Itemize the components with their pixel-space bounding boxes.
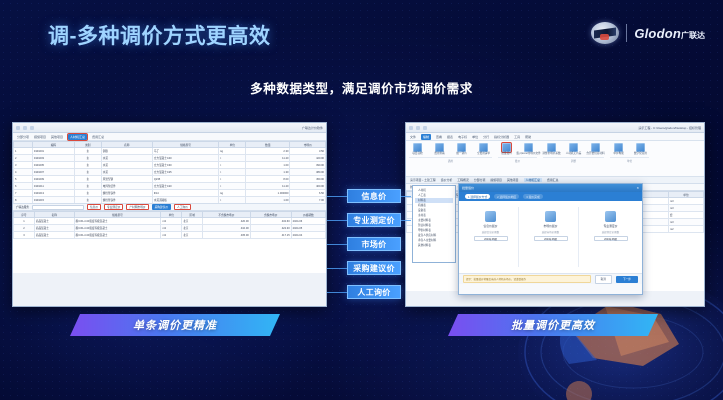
close-icon[interactable]: [30, 126, 34, 130]
dialog-cancel-button[interactable]: 取消: [595, 275, 612, 284]
nav-tab-4[interactable]: 其他项目: [507, 178, 519, 182]
cell-unit: m3: [161, 218, 182, 225]
ribbon-button-全费用清单[interactable]: 全费用清单: [475, 143, 492, 156]
ribbon-button-人材机无价差[interactable]: 人材机无价差: [565, 143, 582, 156]
cell-unit: m3: [161, 232, 182, 239]
page-title: 调-多种调价方式更高效: [48, 20, 271, 50]
ribbon-button-label: 单价构成: [613, 153, 623, 156]
toolbar-brand-label: 广联达服务: [16, 205, 29, 209]
cell-no: 3: [14, 232, 35, 239]
table-row: 3商品混凝土碳C30~C40强度等级混凝土m3北京405.00417.15202…: [14, 232, 326, 239]
cell-name: 商品混凝土: [34, 232, 74, 239]
cell-price: 390.00: [290, 162, 326, 169]
dialog-card-field-label: 选择信息价期数: [482, 230, 500, 234]
cell-unit: 套: [668, 212, 703, 219]
table-row: 20101003主水泥立方混凝土C40t11.20420.00: [14, 155, 326, 162]
ribbon-button-label: 调整市场价系数: [542, 153, 560, 156]
ribbon-button-调整市场价系数[interactable]: 调整市场价系数: [543, 143, 560, 156]
ribbon-button-label: 项目自检: [412, 153, 422, 156]
glodon-globe-icon: [591, 22, 619, 44]
table-row: 60101011主电焊条结件立方混凝土C20t11.20400.00: [14, 183, 326, 190]
right-window-titlebar: 演示工程 - C:/Users/glodon/Desktop - 招标管理: [406, 123, 704, 133]
cell-spec: 立方混凝土C25: [152, 169, 218, 176]
cell-p1: 405.00: [203, 232, 251, 239]
cell-code: 0101009: [32, 176, 74, 183]
dialog-card-2[interactable]: 专业测定价选择测定价期数2024年06期: [583, 207, 638, 267]
cell-code: 0101001: [32, 148, 74, 155]
dialog-next-button[interactable]: 下一步: [616, 276, 638, 283]
ribbon-group-0: 项目自检费用查看统一调价全费用清单通用: [409, 143, 492, 163]
cell-code: 0101005: [32, 162, 74, 169]
cell-spec: 碳C30~C40强度等级混凝土: [74, 225, 161, 232]
price-source-tab-4[interactable]: 人工询价: [174, 204, 191, 210]
table-row: 2商品混凝土碳C30~C40强度等级混凝土m3北京410.00422.30202…: [14, 225, 326, 232]
dialog-card-field-input[interactable]: 2024年06期: [534, 236, 568, 241]
price-source-tab-3[interactable]: 采购建议价: [152, 204, 171, 210]
dialog-step-bar: 1 选择载价方式2 选择载价地区3 载价完成: [459, 192, 642, 201]
price-source-tab-2[interactable]: 广材网市场价: [126, 204, 148, 210]
dialog-card-field-label: 选择测定价期数: [602, 230, 620, 234]
cell-qty: 1.30: [246, 169, 290, 176]
cell-qty: 2.30: [246, 148, 290, 155]
cell-p1: 420.00: [203, 218, 251, 225]
check-icon: [413, 143, 422, 152]
search-input[interactable]: [32, 205, 84, 210]
cell-cat: 主: [74, 176, 101, 183]
connector-line-4: [327, 268, 347, 269]
ribbon-button-费用查看[interactable]: 费用查看: [431, 143, 448, 156]
cell-period: 2024-04: [291, 232, 325, 239]
ribbon-group-items: 调整市场价系数人材机无价差含开始供应材料: [543, 143, 604, 156]
ribbon-button-label: 费用查看: [434, 153, 444, 156]
ribbon-group-items: 项目自检费用查看统一调价全费用清单: [409, 143, 492, 156]
ribbon-button-项目自检[interactable]: 项目自检: [409, 143, 426, 156]
dialog-card-field-input[interactable]: 2024年06期: [474, 236, 508, 241]
dialog-card-title: 专业测定价: [604, 224, 618, 228]
nav-tab-3[interactable]: 措施项目: [490, 178, 502, 182]
cell-spec: Q235: [152, 176, 218, 183]
dialog-title: 批量载价: [462, 186, 474, 190]
cell-qty: 1.000000: [246, 190, 290, 197]
nav-tab-6[interactable]: 费用汇总: [547, 178, 559, 182]
table-row: 10101001主钢筋马丁kg2.303.50: [14, 148, 326, 155]
cell-p2: 417.15: [250, 232, 291, 239]
ribbon-button-label: 全费用清单: [477, 153, 490, 156]
cell-qty: 1.00: [246, 162, 290, 169]
cell-name: 水泥: [101, 162, 152, 169]
cell-cat: 主: [74, 169, 101, 176]
connector-line-right-2: [401, 220, 411, 221]
cell-unit: t: [219, 176, 246, 183]
dialog-card-1[interactable]: 市场价载价选择市场价期数2024年06期: [523, 207, 579, 267]
ribbon-group-name: 批价: [498, 157, 537, 163]
cell-unit: m3: [668, 198, 703, 205]
left-lower-table: 序号名称规格型号单位区域不含税市场价含税市场价价格期数 1商品混凝土碳C30~C…: [13, 211, 326, 239]
cell-price: 450.00: [290, 176, 326, 183]
brand-name-cn: 广联达: [681, 31, 705, 40]
material-tree-panel[interactable]: 人材机人工表材料表机械表设备表主材表主要材料表暂估材料表甲供材料表发包人供应材料…: [412, 185, 456, 263]
ribbon-tab-1[interactable]: 编制: [421, 134, 431, 140]
ribbon-tab-4[interactable]: 电子标: [458, 135, 467, 139]
save-icon[interactable]: [416, 126, 420, 130]
list-icon: [479, 143, 488, 152]
ribbon-group-items: 批量载价载入Excel市场价文件: [498, 143, 537, 156]
unit-icon: [614, 143, 623, 152]
right-ribbon-tabs: 文件编制查看报表电子标单位分行指标分析器工具帮助: [406, 133, 704, 141]
cell-cat: 主: [74, 183, 101, 190]
minimize-icon[interactable]: [16, 126, 20, 130]
cell-spec: 碳C30~C40强度等级混凝土: [74, 232, 161, 239]
brand-name-en: Glodon: [634, 26, 681, 41]
cell-code: 0101003: [32, 155, 74, 162]
cell-name: 钢筋: [101, 148, 152, 155]
cell-no: 2: [14, 155, 33, 162]
ribbon-tab-8[interactable]: 工具: [514, 135, 520, 139]
dialog-footer: 提示：批量载价将覆盖当前人材机市场价，请谨慎操作 取消 下一步: [459, 273, 642, 284]
table-row: 50101009主风管型钢Q235t8.00450.00: [14, 176, 326, 183]
cell-unit: t: [219, 183, 246, 190]
cell-unit: kg: [219, 190, 246, 197]
cell-cat: 主: [74, 148, 101, 155]
cell-p2: 432.60: [250, 218, 291, 225]
cell-no: 5: [14, 176, 33, 183]
report-icon: [435, 143, 444, 152]
ribbon-group-name: 通用: [409, 157, 492, 163]
connector-line-2: [327, 220, 347, 221]
left-window-title: 广联达计价软件: [302, 126, 323, 130]
ribbon-button-label: 人材机无价差: [566, 153, 582, 156]
cell-spec: 碳C30~C40强度等级混凝土: [74, 218, 161, 225]
cell-cat: 主: [74, 155, 101, 162]
maximize-icon[interactable]: [23, 126, 27, 130]
dialog-step-2[interactable]: 3 载价完成: [523, 194, 543, 199]
nav-tab-1[interactable]: 工程概况: [457, 178, 469, 182]
cell-qty: 11.20: [246, 155, 290, 162]
connector-line-1: [327, 196, 347, 197]
cell-unit: t: [219, 162, 246, 169]
dialog-card-0[interactable]: 信息价载价选择信息价期数2024年06期: [463, 207, 519, 267]
nav-tab-5[interactable]: 人材机汇总: [524, 178, 542, 182]
cell-unit: t: [219, 169, 246, 176]
batch-price-dialog: 批量载价 ✕ 1 选择载价方式2 选择载价地区3 载价完成 信息价载价选择信息价…: [458, 183, 643, 295]
banner-right: 批量调价更高效: [448, 314, 658, 336]
ribbon-tab-0[interactable]: 文件: [410, 135, 416, 139]
undo-icon[interactable]: [423, 126, 427, 130]
cell-qty: 11.20: [246, 183, 290, 190]
brand-logo: Glodon广联达: [591, 22, 705, 44]
dialog-close-icon[interactable]: ✕: [636, 186, 639, 190]
left-app-window: 广联达计价软件 分部分项措施项目其他项目人材机汇总费用汇总 编码类别名称规格型号…: [12, 122, 327, 307]
right-app-window: 演示工程 - C:/Users/glodon/Desktop - 招标管理 文件…: [405, 122, 705, 307]
cell-cat: 主: [74, 190, 101, 197]
left-tab-4[interactable]: 费用汇总: [92, 135, 104, 139]
nav-tab-0[interactable]: 造价分析: [441, 178, 453, 182]
cell-price: 380.00: [290, 169, 326, 176]
cell-code: 0101011: [32, 183, 74, 190]
cell-area: 北京: [182, 232, 203, 239]
cell-cat: 主: [74, 162, 101, 169]
cell-spec: 立方混凝土C30: [152, 162, 218, 169]
right-window-title: 演示工程 - C:/Users/glodon/Desktop - 招标管理: [638, 126, 701, 130]
cell-no: 3: [14, 162, 33, 169]
cell-code: 0101013: [32, 190, 74, 197]
market-price-icon: [545, 211, 556, 222]
connector-line-3: [327, 244, 347, 245]
ribbon-button-label: 数字化应用: [634, 153, 647, 156]
annotation-chip-市场价: 市场价: [347, 237, 401, 251]
ribbon-group-1: 批量载价载入Excel市场价文件批价: [498, 143, 537, 163]
ribbon-tab-5[interactable]: 单位: [472, 135, 478, 139]
table-row: 70101013主螺栓垫铁件Ф14kg1.0000006.50: [14, 190, 326, 197]
annotation-chip-采购建议价: 采购建议价: [347, 261, 401, 275]
table-row: 30101005主水泥立方混凝土C30t1.00390.00: [14, 162, 326, 169]
cell-area: 北京: [182, 225, 203, 232]
cell-p1: 410.00: [203, 225, 251, 232]
annotation-chip-人工询价: 人工询价: [347, 285, 401, 299]
cell-no: 1: [14, 218, 35, 225]
left-tab-0[interactable]: 分部分项: [17, 135, 29, 139]
left-tab-2[interactable]: 其他项目: [51, 135, 63, 139]
cell-name: 电焊条结件: [101, 183, 152, 190]
cell-unit: m2: [668, 226, 703, 233]
cell-period: 2024-05: [291, 225, 325, 232]
left-window-titlebar: 广联达计价软件: [13, 123, 326, 133]
ribbon-button-含开始供应材料[interactable]: 含开始供应材料: [587, 143, 604, 156]
dialog-body: 信息价载价选择信息价期数2024年06期市场价载价选择市场价期数2024年06期…: [459, 201, 642, 273]
excel-icon: [524, 143, 533, 152]
left-tab-1[interactable]: 措施项目: [34, 135, 46, 139]
ribbon-button-单价构成[interactable]: 单价构成: [610, 143, 627, 156]
balance-icon: [569, 143, 578, 152]
connector-line-5: [327, 292, 347, 293]
cell-no: 6: [14, 183, 33, 190]
left-top-tabs: 分部分项措施项目其他项目人材机汇总费用汇总: [13, 133, 326, 141]
ribbon-group-name: 单位: [610, 157, 649, 163]
cell-name: 风管型钢: [101, 176, 152, 183]
batch-price-icon: [502, 143, 511, 152]
annotation-chip-信息价: 信息价: [347, 189, 401, 203]
breadcrumb: 演示项目 › 土建工程: [410, 178, 436, 182]
nav-tab-2[interactable]: 分部分项: [474, 178, 486, 182]
dialog-tip: 提示：批量载价将覆盖当前人材机市场价，请谨慎操作: [463, 275, 591, 283]
cell-name: 水泥: [101, 155, 152, 162]
cell-unit: t: [219, 155, 246, 162]
cell-spec: 马丁: [152, 148, 218, 155]
ribbon-button-载入Excel市场价文件[interactable]: 载入Excel市场价文件: [520, 143, 537, 156]
ribbon-tab-7[interactable]: 指标分析器: [494, 135, 509, 139]
cell-area: 北京: [182, 218, 203, 225]
coefficient-icon: [547, 143, 556, 152]
tree-item-11[interactable]: 其他材料表: [415, 243, 453, 248]
annotation-chip-专业测定价: 专业测定价: [347, 213, 401, 227]
measured-price-icon: [605, 211, 616, 222]
table-row: 1商品混凝土碳C30~C40强度等级混凝土m3北京420.00432.60202…: [14, 218, 326, 225]
right-ribbon-body: 项目自检费用查看统一调价全费用清单通用批量载价载入Excel市场价文件批价调整市…: [406, 141, 704, 177]
ribbon-button-label: 含开始供应材料: [586, 153, 604, 156]
table-row: 40101007主水泥立方混凝土C25t1.30380.00: [14, 169, 326, 176]
cell-unit: m3: [668, 219, 703, 226]
connector-line-right-1: [401, 196, 411, 197]
ribbon-tab-6[interactable]: 分行: [483, 135, 489, 139]
cell-price: 3.50: [290, 148, 326, 155]
price-source-toolbar: 广联达服务信息价专业测定价广材网市场价采购建议价人工询价: [13, 203, 326, 211]
brand-divider: [626, 24, 627, 42]
ribbon-group-name: 调整: [543, 157, 604, 163]
ribbon-tab-9[interactable]: 帮助: [525, 135, 531, 139]
left-upper-table-area[interactable]: 编码类别名称规格型号单位数量市场价 10101001主钢筋马丁kg2.303.5…: [13, 141, 326, 203]
cell-price: 400.00: [290, 183, 326, 190]
dialog-step-0[interactable]: 1 选择载价方式: [465, 194, 490, 199]
cell-name: 商品混凝土: [34, 218, 74, 225]
cell-no: 2: [14, 225, 35, 232]
dialog-card-field-input[interactable]: 2024年06期: [594, 236, 628, 241]
cell-unit: kg: [219, 148, 246, 155]
dialog-titlebar: 批量载价 ✕: [459, 184, 642, 192]
ribbon-tab-2[interactable]: 查看: [436, 135, 442, 139]
dialog-card-title: 市场价载价: [544, 224, 558, 228]
cell-price: 420.00: [290, 155, 326, 162]
ribbon-button-label: 批量载价: [501, 153, 511, 156]
cell-qty: 8.00: [246, 176, 290, 183]
ribbon-group-2: 调整市场价系数人材机无价差含开始供应材料调整: [543, 143, 604, 163]
brand-name: Glodon广联达: [634, 26, 705, 41]
ribbon-button-label: 统一调价: [456, 153, 466, 156]
dialog-card-field-label: 选择市场价期数: [542, 230, 560, 234]
supply-icon: [591, 143, 600, 152]
price-source-tab-1[interactable]: 专业测定价: [104, 204, 123, 210]
info-price-icon: [485, 211, 496, 222]
ribbon-button-统一调价[interactable]: 统一调价: [453, 143, 470, 156]
ribbon-button-数字化应用[interactable]: 数字化应用: [632, 143, 649, 156]
cell-name: 商品混凝土: [34, 225, 74, 232]
price-source-tab-0[interactable]: 信息价: [87, 204, 101, 210]
banner-left: 单条调价更精准: [70, 314, 280, 336]
left-tab-3[interactable]: 人材机汇总: [68, 134, 87, 140]
dialog-step-1[interactable]: 2 选择载价地区: [494, 194, 519, 199]
cell-unit: m3: [668, 205, 703, 212]
cell-code: 0101007: [32, 169, 74, 176]
ribbon-tab-3[interactable]: 报表: [447, 135, 453, 139]
ribbon-button-label: 载入Excel市场价文件: [516, 153, 541, 156]
app-menu-icon[interactable]: [409, 126, 413, 130]
page-subtitle: 多种数据类型，满足调价市场调价需求: [0, 78, 723, 97]
cell-no: 7: [14, 190, 33, 197]
left-lower-table-area[interactable]: 序号名称规格型号单位区域不含税市场价含税市场价价格期数 1商品混凝土碳C30~C…: [13, 211, 326, 273]
cell-period: 2024-06: [291, 218, 325, 225]
ribbon-button-批量载价[interactable]: 批量载价: [498, 143, 515, 156]
ribbon-group-items: 单价构成数字化应用: [610, 143, 649, 156]
cell-spec: 立方混凝土C20: [152, 183, 218, 190]
dialog-card-title: 信息价载价: [484, 224, 498, 228]
cell-spec: 立方混凝土C40: [152, 155, 218, 162]
ribbon-group-3: 单价构成数字化应用单位: [610, 143, 649, 163]
cell-price: 6.50: [290, 190, 326, 197]
cell-p2: 422.30: [250, 225, 291, 232]
cell-no: 1: [14, 148, 33, 155]
cell-name: 水泥: [101, 169, 152, 176]
cell-spec: Ф14: [152, 190, 218, 197]
left-upper-table: 编码类别名称规格型号单位数量市场价 10101001主钢筋马丁kg2.303.5…: [13, 141, 326, 203]
cell-no: 4: [14, 169, 33, 176]
price-icon: [457, 143, 466, 152]
cell-name: 螺栓垫铁件: [101, 190, 152, 197]
cell-unit: m3: [161, 225, 182, 232]
cloud-icon: [636, 143, 645, 152]
